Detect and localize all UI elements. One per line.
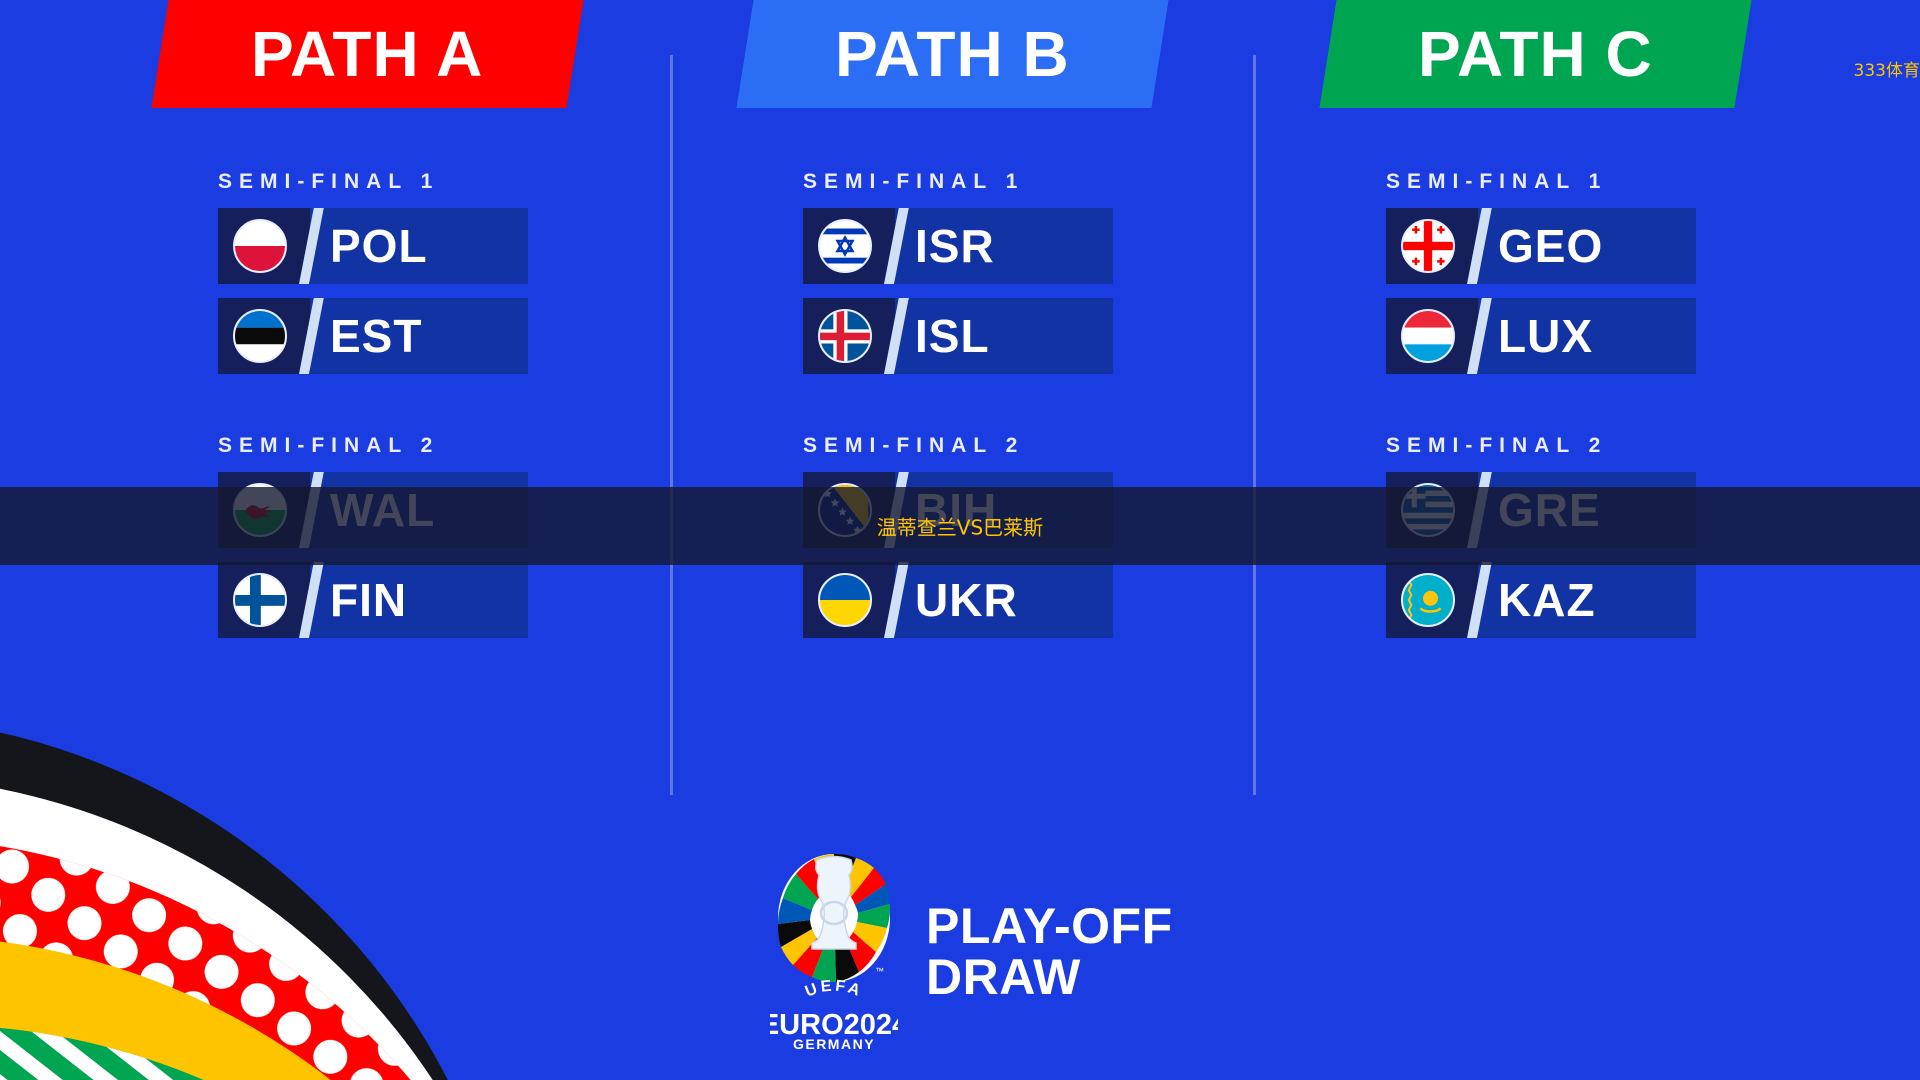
path-c-semifinal-1-label: SEMI-FINAL 1 (1386, 170, 1888, 194)
team-code: ISR (915, 219, 995, 273)
team-code: UKR (915, 573, 1018, 627)
israel-flag-icon (818, 219, 872, 273)
poland-flag-icon (233, 219, 287, 273)
luxembourg-flag-icon (1401, 309, 1455, 363)
path-b-semifinal-1-label: SEMI-FINAL 1 (803, 170, 1305, 194)
footer-title-line-2: DRAW (926, 952, 1173, 1003)
team-code: POL (330, 219, 428, 273)
path-b-banner: PATH B (736, 0, 1168, 108)
path-b-semifinal-2-label: SEMI-FINAL 2 (803, 434, 1305, 458)
team-code: ISL (915, 309, 990, 363)
footer-title: PLAY-OFF DRAW (926, 901, 1173, 1003)
team-row[interactable]: ISL (803, 298, 1113, 374)
team-code: LUX (1498, 309, 1593, 363)
path-a-banner: PATH A (151, 0, 583, 108)
footer-branding: ™ UEFA EURO2024 GERMANY PLAY-OFF DRAW (770, 852, 1173, 1052)
georgia-flag-icon (1401, 219, 1455, 273)
path-c-label: PATH C (1418, 17, 1653, 91)
team-row[interactable]: ISR (803, 208, 1113, 284)
kazakhstan-flag-icon (1401, 573, 1455, 627)
team-row[interactable]: POL (218, 208, 528, 284)
ukraine-flag-icon (818, 573, 872, 627)
logo-country-text: GERMANY (793, 1036, 875, 1052)
path-c-banner: PATH C (1319, 0, 1751, 108)
stream-overlay-bar: 温蒂查兰VS巴莱斯 (0, 487, 1920, 565)
overlay-brand-watermark: 333体育 (1854, 56, 1920, 81)
team-code: GEO (1498, 219, 1603, 273)
team-row[interactable]: LUX (1386, 298, 1696, 374)
finland-flag-icon (233, 573, 287, 627)
team-code: FIN (330, 573, 407, 627)
team-code: KAZ (1498, 573, 1596, 627)
path-b-label: PATH B (835, 17, 1070, 91)
team-row[interactable]: FIN (218, 562, 528, 638)
team-row[interactable]: GEO (1386, 208, 1696, 284)
overlay-match-text: 温蒂查兰VS巴莱斯 (877, 512, 1043, 541)
uefa-euro-2024-logo-icon: ™ UEFA EURO2024 GERMANY (770, 852, 898, 1052)
estonia-flag-icon (233, 309, 287, 363)
team-row[interactable]: UKR (803, 562, 1113, 638)
team-code: EST (330, 309, 422, 363)
team-row[interactable]: KAZ (1386, 562, 1696, 638)
svg-text:™: ™ (875, 966, 884, 976)
team-row[interactable]: EST (218, 298, 528, 374)
path-a-semifinal-1-label: SEMI-FINAL 1 (218, 170, 720, 194)
footer-title-line-1: PLAY-OFF (926, 901, 1173, 952)
path-c-semifinal-2-label: SEMI-FINAL 2 (1386, 434, 1888, 458)
path-a-semifinal-2-label: SEMI-FINAL 2 (218, 434, 720, 458)
iceland-flag-icon (818, 309, 872, 363)
path-a-label: PATH A (251, 17, 483, 91)
